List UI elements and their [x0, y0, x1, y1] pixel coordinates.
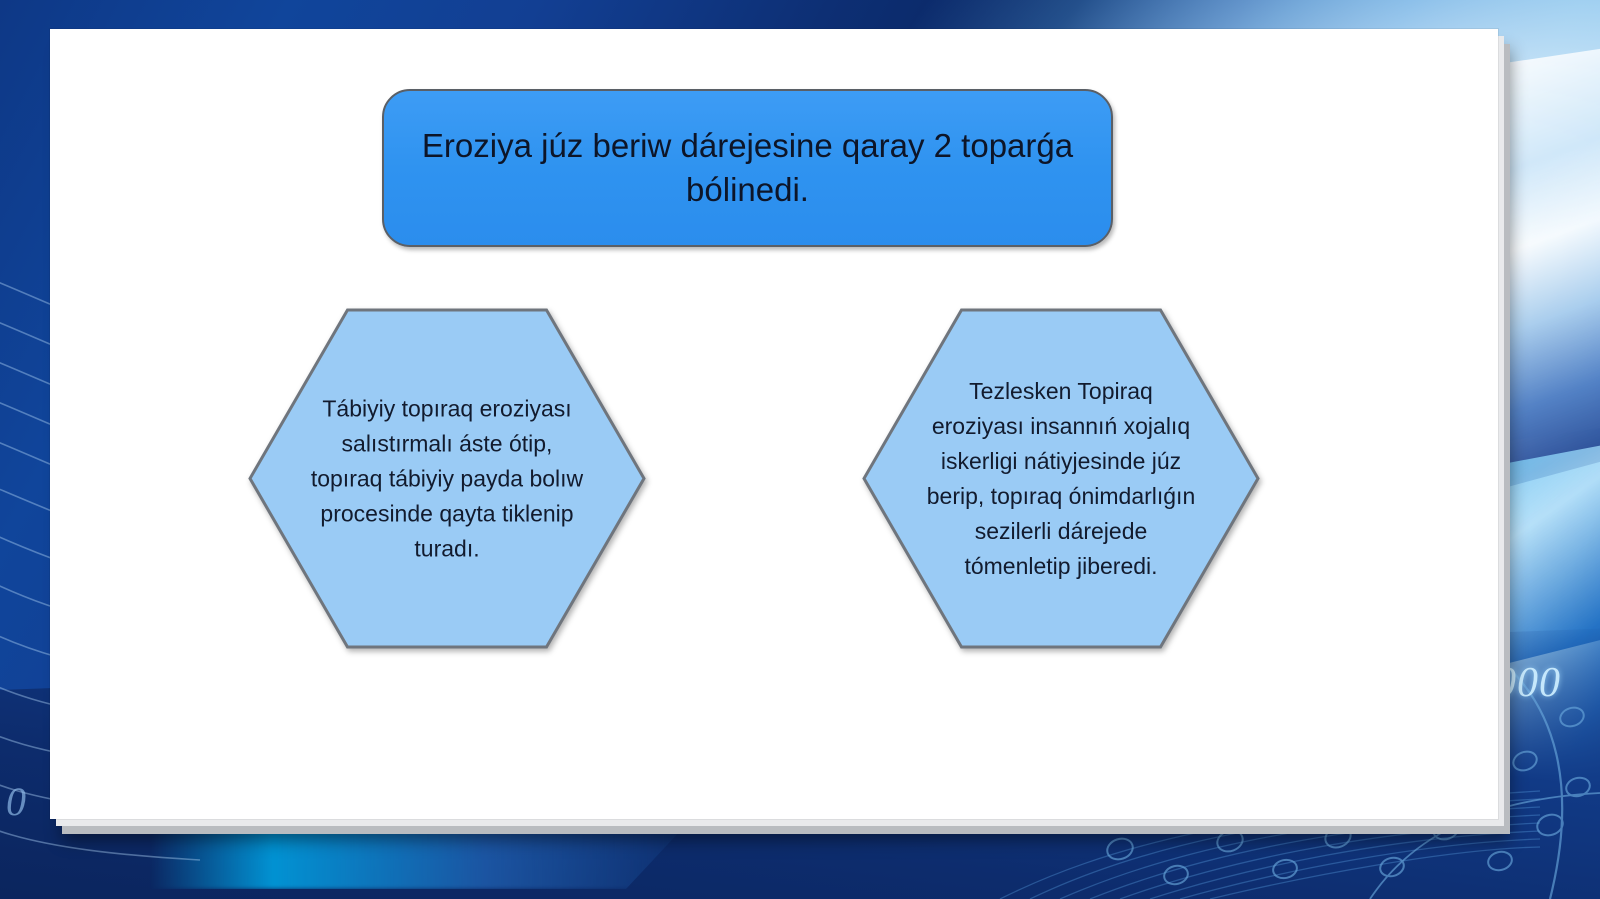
title-shape[interactable]: Eroziya júz beriw dárejesine qaray 2 top…: [382, 89, 1113, 247]
hexagon-right-text: Tezlesken Topiraq eroziyası insannıń xoj…: [920, 374, 1202, 584]
hexagon-left-text: Tábiyiy topıraq eroziyası salıstırmalı á…: [306, 391, 588, 566]
background-zero-mark-left: 0: [6, 778, 26, 825]
title-text: Eroziya júz beriw dárejesine qaray 2 top…: [406, 124, 1089, 211]
presentation-slide-view: 000 0 Eroziya júz beriw dárejesine qaray…: [0, 0, 1600, 899]
hexagon-natural-erosion[interactable]: Tábiyiy topıraq eroziyası salıstırmalı á…: [248, 308, 646, 649]
slide-canvas: Eroziya júz beriw dárejesine qaray 2 top…: [50, 29, 1498, 819]
hexagon-accelerated-erosion[interactable]: Tezlesken Topiraq eroziyası insannıń xoj…: [862, 308, 1260, 649]
